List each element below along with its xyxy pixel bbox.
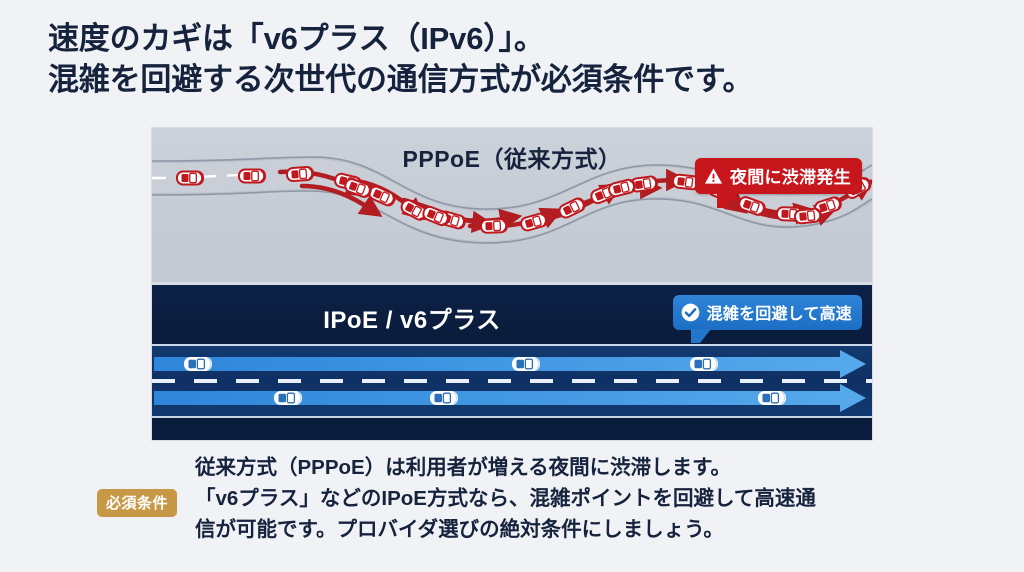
ipoe-header-bar: IPoE / v6プラス 混雑を回避して高速 bbox=[152, 282, 872, 344]
comparison-figure: PPPoE（従来方式） 夜間に渋滞発生 IPoE / v6プラス 混雑を回避して… bbox=[152, 128, 872, 440]
badge-tail bbox=[717, 193, 738, 208]
title-line-1: 速度のカギは「v6プラス（IPv6）」。 bbox=[48, 18, 948, 59]
caption-line-2: 「v6プラス」などのIPoE方式なら、混雑ポイントを回避して高速通 bbox=[195, 483, 925, 514]
fast-lane-badge: 混雑を回避して高速 bbox=[673, 295, 862, 330]
ipoe-road-illustration bbox=[152, 344, 872, 418]
requirement-badge: 必須条件 bbox=[97, 489, 177, 517]
caption-block: 必須条件 従来方式（PPPoE）は利用者が増える夜間に渋滞します。 「v6プラス… bbox=[195, 452, 925, 545]
upper-lane-arrow bbox=[154, 350, 866, 378]
caption-line-3: 信が可能です。プロバイダ選びの絶対条件にしましょう。 bbox=[195, 514, 925, 545]
warning-badge-label: 夜間に渋滞発生 bbox=[730, 163, 851, 188]
ipoe-footer-strip bbox=[152, 418, 872, 440]
congestion-warning-badge: 夜間に渋滞発生 bbox=[695, 158, 862, 194]
pppoe-section: PPPoE（従来方式） 夜間に渋滞発生 bbox=[152, 128, 872, 282]
caption-line-1: 従来方式（PPPoE）は利用者が増える夜間に渋滞します。 bbox=[195, 452, 925, 483]
fast-lane-badge-label: 混雑を回避して高速 bbox=[707, 300, 852, 324]
ipoe-lanes-svg bbox=[152, 346, 872, 416]
warning-triangle-icon bbox=[704, 167, 723, 185]
page-title: 速度のカギは「v6プラス（IPv6）」。 混雑を回避する次世代の通信方式が必須条… bbox=[48, 18, 948, 100]
title-line-2: 混雑を回避する次世代の通信方式が必須条件です。 bbox=[48, 59, 948, 100]
badge-tail bbox=[691, 329, 711, 343]
check-circle-icon bbox=[681, 303, 700, 322]
